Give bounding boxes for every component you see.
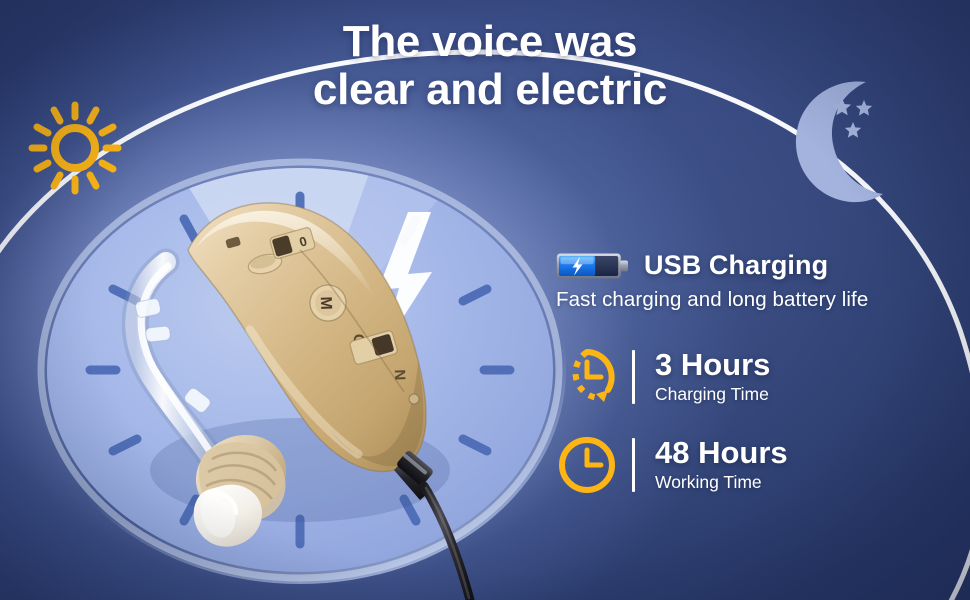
moon-crescent-icon — [796, 81, 883, 202]
page-title: The voice was clear and electric — [255, 18, 725, 113]
battery-charging-icon — [556, 251, 630, 281]
stat-row-charging-time: 3 Hours Charging Time — [556, 346, 956, 408]
svg-text:M: M — [317, 296, 334, 310]
stat-label: Charging Time — [655, 384, 770, 405]
svg-text:N: N — [391, 369, 408, 380]
stat-label: Working Time — [655, 472, 788, 493]
stat-value: 48 Hours — [655, 437, 788, 469]
headline-line-1: The voice was — [343, 17, 637, 66]
clock-solid-icon — [556, 434, 618, 496]
usb-charging-title: USB Charging — [644, 250, 828, 281]
stat-value: 3 Hours — [655, 349, 770, 381]
feature-list: USB Charging Fast charging and long batt… — [556, 250, 956, 496]
sun-icon — [32, 105, 118, 191]
stat-row-working-time: 48 Hours Working Time — [556, 434, 956, 496]
headline-line-2: clear and electric — [255, 66, 725, 114]
stat-divider — [632, 350, 635, 404]
product-marketing-banner: 0 M O N — [0, 0, 970, 600]
clock-dashed-icon — [556, 346, 618, 408]
stat-divider — [632, 438, 635, 492]
usb-charging-subtitle: Fast charging and long battery life — [556, 288, 956, 312]
usb-charging-row: USB Charging — [556, 250, 956, 281]
